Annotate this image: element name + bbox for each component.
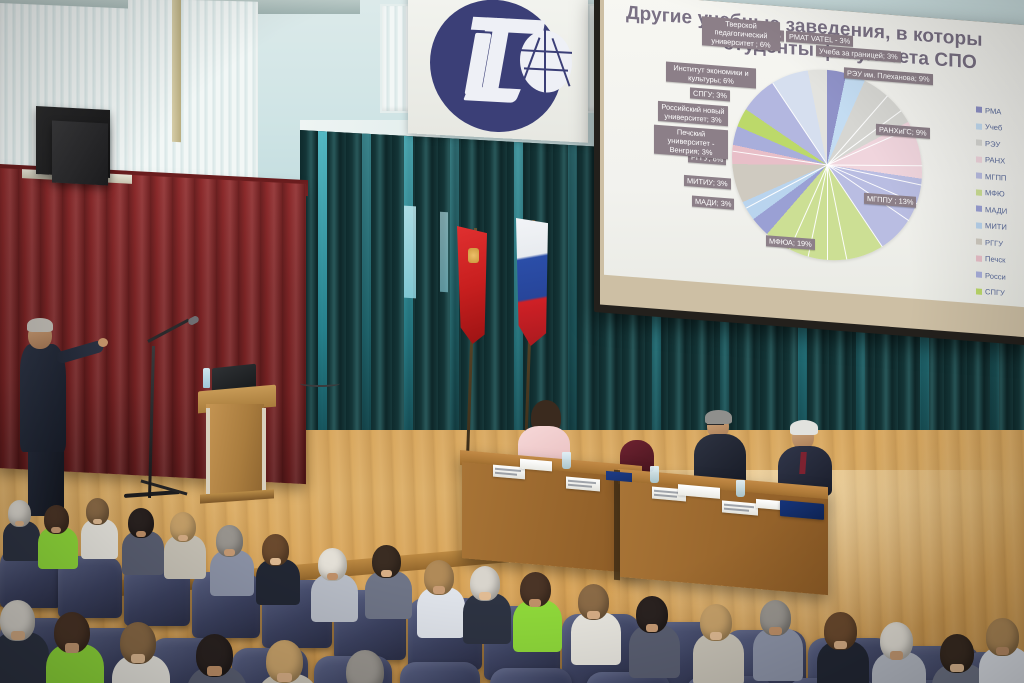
audience-member-body bbox=[164, 535, 206, 579]
audience-member-body bbox=[629, 625, 680, 679]
moscow-flag bbox=[457, 226, 487, 344]
window-gap-light-1 bbox=[404, 206, 416, 299]
moscow-flag-emblem bbox=[468, 248, 479, 263]
audience-member-neck bbox=[327, 573, 338, 580]
window-gap-light-2 bbox=[440, 212, 448, 292]
russia-flag bbox=[516, 218, 548, 346]
presentation-slide: Другие учебные заведения, в которы студе… bbox=[604, 0, 1024, 308]
legend-swatch bbox=[976, 189, 982, 195]
legend-label: МФЮ bbox=[985, 188, 1005, 199]
legend-swatch bbox=[976, 255, 982, 261]
legend-label: Печск bbox=[985, 254, 1006, 265]
banner-edge-strip bbox=[172, 0, 181, 142]
audience-member-neck bbox=[996, 647, 1009, 655]
pie-label-madi: МАДИ; 3% bbox=[692, 196, 734, 210]
legend-swatch bbox=[976, 107, 982, 113]
legend-label: СПГУ bbox=[985, 287, 1005, 298]
water-glass-3 bbox=[736, 480, 745, 497]
legend-swatch bbox=[976, 156, 982, 162]
legend-swatch bbox=[976, 206, 982, 212]
audience-member-neck bbox=[890, 651, 903, 659]
audience-member-neck bbox=[178, 535, 188, 542]
projection-screen: Другие учебные заведения, в которы студе… bbox=[594, 0, 1024, 346]
audience-member-neck bbox=[207, 666, 222, 675]
audience-member-neck bbox=[529, 599, 541, 607]
pie-label-rosnou: Российский новый университет; 3% bbox=[658, 101, 728, 126]
audience-member-neck bbox=[587, 611, 599, 619]
audience-member-neck bbox=[277, 673, 292, 683]
legend-swatch bbox=[976, 288, 982, 294]
pie-label-tver: Тверской педагогический университет ; 6% bbox=[702, 16, 780, 51]
audience-member-neck bbox=[51, 527, 61, 533]
audience-member-body bbox=[81, 519, 119, 559]
legend-label: МАДИ bbox=[985, 205, 1007, 216]
audience-member-neck bbox=[381, 570, 392, 577]
audience-member-neck bbox=[136, 531, 146, 538]
legend-label: Учеб bbox=[985, 122, 1002, 132]
legend-swatch bbox=[976, 239, 982, 245]
pie-label-mitiu: МИТИУ; 3% bbox=[684, 175, 731, 190]
audience-member-neck bbox=[270, 558, 281, 565]
institute-logo-banner bbox=[408, 0, 588, 143]
ito-institute-logo bbox=[430, 0, 562, 135]
floor-cable bbox=[300, 380, 340, 387]
legend-label: РАНХ bbox=[985, 155, 1005, 166]
pie-slice-divider bbox=[827, 165, 828, 260]
pie-label-spgu: СПГУ; 3% bbox=[690, 87, 730, 101]
audience-member-neck bbox=[710, 632, 723, 640]
audience-member-neck bbox=[65, 643, 79, 652]
audience-member-neck bbox=[131, 654, 146, 663]
legend-label: МИТИ bbox=[985, 221, 1007, 232]
water-glass-1 bbox=[562, 452, 571, 469]
audience-member-body bbox=[571, 612, 621, 665]
presenter-hair bbox=[27, 318, 53, 332]
legend-label: Росси bbox=[985, 271, 1006, 282]
audience-member-body bbox=[753, 628, 803, 681]
legend-swatch bbox=[976, 123, 982, 129]
pie-label-pecs: Печский университет - Венгрия; 3% bbox=[654, 125, 728, 160]
podium-body bbox=[206, 404, 264, 496]
audience-member-body bbox=[513, 600, 563, 652]
panelist-man-grey-hair bbox=[790, 420, 818, 435]
legend-label: РЭУ bbox=[985, 139, 1000, 149]
legend-swatch bbox=[976, 140, 982, 146]
water-glass-2 bbox=[650, 466, 659, 483]
auditorium-photo: Другие учебные заведения, в которы студе… bbox=[0, 0, 1024, 683]
audience-member-neck bbox=[646, 624, 659, 632]
loudspeaker-cabinet-right bbox=[52, 121, 108, 186]
water-bottle bbox=[203, 368, 210, 388]
audience-member-body bbox=[122, 531, 164, 575]
audience-member-neck bbox=[950, 664, 964, 673]
table-seam bbox=[614, 470, 620, 581]
legend-swatch bbox=[976, 272, 982, 278]
globe-icon bbox=[520, 29, 572, 94]
legend-swatch bbox=[976, 173, 982, 179]
presenter-hand bbox=[98, 338, 108, 347]
auditorium-seat bbox=[490, 668, 572, 683]
audience-member-neck bbox=[224, 549, 235, 556]
eyeglasses-icon bbox=[706, 424, 724, 429]
auditorium-seat bbox=[400, 662, 480, 683]
chart-legend: РМАУчебРЭУ РАНХМГППМФЮМАДИМИТИРГГУПечскР… bbox=[976, 101, 1024, 307]
audience-member-body bbox=[3, 521, 41, 561]
audience-member-neck bbox=[433, 586, 445, 594]
legend-label: РГГУ bbox=[985, 238, 1003, 248]
legend-swatch bbox=[976, 222, 982, 228]
audience-member-neck bbox=[479, 592, 491, 600]
legend-label: РМА bbox=[985, 106, 1001, 116]
audience-member-neck bbox=[769, 627, 781, 635]
panelist-man-glasses-hair bbox=[705, 410, 732, 424]
pie-chart bbox=[732, 63, 922, 268]
audience-member-neck bbox=[834, 641, 847, 649]
legend-label: МГПП bbox=[985, 172, 1006, 183]
audience-member-neck bbox=[11, 631, 25, 640]
